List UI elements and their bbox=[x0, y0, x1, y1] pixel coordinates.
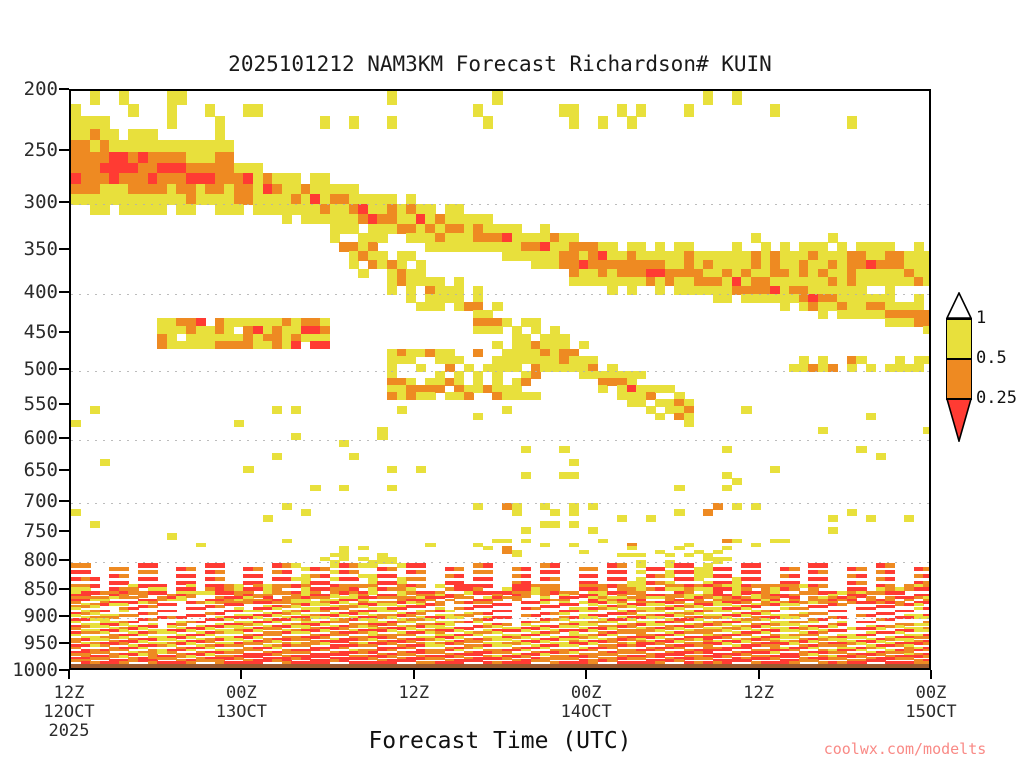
colorbar-arrow-above-1 bbox=[946, 292, 972, 318]
heatmap-cell bbox=[81, 563, 91, 567]
y-tick-label-700: 700 bbox=[0, 490, 58, 512]
heatmap-cell bbox=[492, 91, 502, 105]
heatmap-cell bbox=[349, 577, 359, 581]
heatmap-cell bbox=[205, 104, 215, 117]
heatmap-cell bbox=[923, 601, 931, 604]
heatmap-cell bbox=[272, 406, 282, 413]
heatmap-cell bbox=[387, 466, 397, 473]
y-tick-label-400: 400 bbox=[0, 281, 58, 303]
heatmap-cell bbox=[416, 364, 426, 372]
heatmap-cell bbox=[100, 610, 110, 613]
heatmap-cell bbox=[243, 466, 253, 473]
x-tick-line: 12Z bbox=[9, 684, 129, 703]
heatmap-cell bbox=[521, 527, 531, 534]
heatmap-cell bbox=[923, 629, 931, 632]
heatmap-cell bbox=[579, 341, 589, 349]
heatmap-cell bbox=[866, 515, 876, 522]
heatmap-cell bbox=[550, 563, 560, 567]
heatmap-cell bbox=[90, 521, 100, 528]
x-tick-line: 00Z bbox=[526, 684, 646, 703]
heatmap-cell bbox=[406, 194, 416, 205]
heatmap-cell bbox=[684, 104, 694, 117]
heatmap-cell bbox=[703, 509, 713, 516]
heatmap-cell bbox=[550, 509, 560, 516]
heatmap-cell bbox=[71, 509, 81, 516]
heatmap-cell bbox=[588, 527, 598, 534]
heatmap-cell bbox=[186, 574, 196, 578]
heatmap-cell bbox=[253, 567, 263, 571]
y-tick-label-250: 250 bbox=[0, 139, 58, 161]
heatmap-cell bbox=[358, 546, 368, 550]
colorbar-divider bbox=[946, 318, 972, 320]
heatmap-cell bbox=[713, 503, 723, 510]
heatmap-cell bbox=[483, 546, 493, 550]
y-tick-label-950: 950 bbox=[0, 632, 58, 654]
heatmap-cell bbox=[253, 574, 263, 578]
heatmap-cell bbox=[349, 453, 359, 460]
x-tick-line: 15OCT bbox=[871, 703, 991, 722]
heatmap-cell bbox=[636, 553, 646, 557]
heatmap-cell bbox=[90, 406, 100, 413]
y-tick-label-750: 750 bbox=[0, 520, 58, 542]
heatmap-cell bbox=[435, 302, 445, 311]
heatmap-cell bbox=[646, 515, 656, 522]
heatmap-cell bbox=[224, 152, 234, 164]
y-tick-label-650: 650 bbox=[0, 459, 58, 481]
heatmap-cell bbox=[569, 521, 579, 528]
heatmap-cell bbox=[684, 543, 694, 547]
heatmap-cell bbox=[722, 485, 732, 492]
y-tick-label-500: 500 bbox=[0, 358, 58, 380]
x-tick-label: 00Z14OCT bbox=[526, 684, 646, 722]
heatmap-cell bbox=[483, 570, 493, 574]
heatmap-cell bbox=[320, 173, 330, 184]
heatmap-cell bbox=[167, 533, 177, 540]
y-tick-label-1000: 1000 bbox=[0, 659, 58, 681]
y-tick-mark bbox=[59, 201, 69, 203]
heatmap-cell bbox=[923, 623, 931, 626]
heatmap-cell bbox=[416, 563, 426, 567]
heatmap-cell bbox=[301, 509, 311, 516]
heatmap-cell bbox=[425, 543, 435, 547]
heatmap-cell bbox=[579, 550, 589, 554]
heatmap-cell bbox=[550, 570, 560, 574]
heatmap-cell bbox=[856, 446, 866, 453]
heatmap-cell bbox=[387, 567, 397, 571]
heatmap-cell bbox=[320, 341, 330, 349]
page-title: 2025101212 NAM3KM Forecast Richardson# K… bbox=[0, 52, 1000, 76]
heatmap-cell bbox=[732, 91, 742, 105]
colorbar-legend: 10.50.25 bbox=[946, 318, 972, 438]
heatmap-cell bbox=[521, 567, 531, 571]
heatmap-cell bbox=[454, 567, 464, 571]
heatmap-cell bbox=[818, 427, 828, 434]
heatmap-cell bbox=[148, 625, 158, 628]
heatmap-cell bbox=[473, 503, 483, 510]
y-tick-mark bbox=[59, 403, 69, 405]
heatmap-cell bbox=[71, 104, 81, 117]
heatmap-cell bbox=[100, 204, 110, 214]
heatmap-cell bbox=[492, 302, 502, 311]
heatmap-cell bbox=[521, 446, 531, 453]
y-tick-mark bbox=[59, 368, 69, 370]
heatmap-cell bbox=[674, 485, 684, 492]
heatmap-cell bbox=[828, 364, 838, 372]
heatmap-cell bbox=[502, 603, 512, 606]
heatmap-cell bbox=[684, 553, 694, 557]
x-tick-label: 00Z13OCT bbox=[181, 684, 301, 722]
heatmap-cell bbox=[751, 563, 761, 567]
heatmap-cell bbox=[473, 104, 483, 117]
heatmap-cell bbox=[770, 466, 780, 473]
heatmap-cell bbox=[923, 567, 931, 571]
heatmap-cell bbox=[512, 509, 522, 516]
heatmap-cell bbox=[665, 553, 675, 557]
colorbar-label-0.5: 0.5 bbox=[976, 348, 1007, 368]
x-tick-mark bbox=[930, 670, 932, 679]
heatmap-cell bbox=[703, 91, 713, 105]
heatmap-cell bbox=[119, 567, 129, 571]
heatmap-cell bbox=[502, 406, 512, 413]
heatmap-cell bbox=[253, 163, 263, 174]
y-tick-label-900: 900 bbox=[0, 605, 58, 627]
heatmap-cell bbox=[387, 485, 397, 492]
heatmap-cell bbox=[923, 574, 931, 578]
heatmap-cell bbox=[387, 116, 397, 129]
heatmap-cell bbox=[349, 184, 359, 195]
heatmap-cell bbox=[780, 539, 790, 543]
heatmap-cell bbox=[540, 543, 550, 547]
heatmap-cell bbox=[454, 574, 464, 578]
heatmap-cell bbox=[291, 433, 301, 440]
heatmap-cell bbox=[531, 392, 541, 400]
heatmap-cell bbox=[617, 563, 627, 567]
y-tick-mark bbox=[59, 88, 69, 90]
y-tick-label-200: 200 bbox=[0, 78, 58, 100]
heatmap-cell bbox=[339, 440, 349, 447]
heatmap-cell bbox=[291, 406, 301, 413]
heatmap-cell bbox=[90, 577, 100, 581]
x-tick-line: 00Z bbox=[871, 684, 991, 703]
heatmap-cell bbox=[684, 420, 694, 427]
heatmap-cell bbox=[837, 610, 847, 613]
heatmap-cell bbox=[818, 584, 828, 588]
y-tick-mark bbox=[59, 331, 69, 333]
heatmap-cell bbox=[282, 570, 292, 574]
heatmap-cell bbox=[885, 577, 895, 581]
heatmap-cell bbox=[923, 649, 931, 652]
heatmap-cell bbox=[186, 204, 196, 214]
heatmap-cell bbox=[722, 557, 732, 561]
colorbar-label-0.25: 0.25 bbox=[976, 388, 1017, 408]
heatmap-cell bbox=[119, 91, 129, 105]
heatmap-cell bbox=[856, 574, 866, 578]
heatmap-cell bbox=[387, 194, 397, 205]
heatmap-cell bbox=[291, 173, 301, 184]
y-tick-mark bbox=[59, 500, 69, 502]
heatmap-cell bbox=[90, 584, 100, 588]
heatmap-cell bbox=[847, 509, 857, 516]
heatmap-cell bbox=[215, 563, 225, 567]
heatmap-cell bbox=[416, 584, 426, 588]
heatmap-cell bbox=[215, 570, 225, 574]
heatmap-cell bbox=[521, 574, 531, 578]
heatmap-cell bbox=[483, 584, 493, 588]
y-tick-label-800: 800 bbox=[0, 549, 58, 571]
heatmap-cell bbox=[588, 567, 598, 571]
heatmap-cell bbox=[923, 427, 931, 434]
heatmap-cell bbox=[186, 567, 196, 571]
heatmap-cell bbox=[885, 563, 895, 567]
heatmap-cell bbox=[387, 286, 397, 295]
heatmap-cell bbox=[339, 557, 349, 561]
heatmap-cell bbox=[167, 116, 177, 129]
heatmap-cell bbox=[416, 570, 426, 574]
heatmap-cell bbox=[521, 539, 531, 543]
heatmap-cell bbox=[215, 116, 225, 129]
x-tick-label: 00Z15OCT bbox=[871, 684, 991, 722]
x-tick-line: 14OCT bbox=[526, 703, 646, 722]
heatmap-cell bbox=[828, 515, 838, 522]
x-tick-label: 12Z bbox=[354, 684, 474, 703]
y-tick-mark bbox=[59, 588, 69, 590]
y-tick-mark bbox=[59, 149, 69, 151]
heatmap-cell bbox=[483, 563, 493, 567]
x-tick-mark bbox=[413, 670, 415, 679]
heatmap-cell bbox=[588, 574, 598, 578]
heatmap-cell bbox=[722, 294, 732, 303]
heatmap-cell bbox=[559, 446, 569, 453]
heatmap-cell bbox=[377, 233, 387, 243]
heatmap-cell bbox=[722, 567, 732, 571]
y-tick-label-350: 350 bbox=[0, 238, 58, 260]
heatmap-cell bbox=[464, 392, 474, 400]
heatmap-cell bbox=[224, 140, 234, 152]
heatmap-cell bbox=[473, 413, 483, 420]
heatmap-plot-area bbox=[69, 89, 931, 670]
heatmap-cell bbox=[90, 91, 100, 105]
heatmap-cell bbox=[196, 543, 206, 547]
heatmap-cell bbox=[751, 570, 761, 574]
heatmap-cell bbox=[282, 214, 292, 224]
heatmap-cell bbox=[732, 478, 742, 485]
heatmap-cell bbox=[148, 563, 158, 567]
heatmap-cell bbox=[253, 104, 263, 117]
heatmap-cell bbox=[588, 503, 598, 510]
heatmap-cell bbox=[109, 129, 119, 141]
heatmap-cell bbox=[176, 91, 186, 105]
heatmap-cell bbox=[713, 550, 723, 554]
heatmap-cell bbox=[751, 577, 761, 581]
watermark: coolwx.com/modelts bbox=[790, 740, 1020, 758]
heatmap-cell bbox=[339, 485, 349, 492]
y-tick-label-450: 450 bbox=[0, 321, 58, 343]
heatmap-cell bbox=[636, 104, 646, 117]
x-tick-mark bbox=[68, 670, 70, 679]
heatmap-cell bbox=[310, 485, 320, 492]
x-tick-line: 12Z bbox=[354, 684, 474, 703]
y-tick-mark bbox=[59, 642, 69, 644]
heatmap-cell bbox=[272, 453, 282, 460]
heatmap-cell bbox=[847, 364, 857, 372]
heatmap-cell bbox=[818, 310, 828, 319]
heatmap-cell bbox=[828, 527, 838, 534]
colorbar-divider bbox=[946, 358, 972, 360]
terrain-ground-layer bbox=[71, 664, 929, 670]
y-tick-mark bbox=[59, 437, 69, 439]
heatmap-cell bbox=[215, 577, 225, 581]
heatmap-cell bbox=[397, 406, 407, 413]
heatmap-cell bbox=[770, 104, 780, 117]
heatmap-cell bbox=[674, 546, 684, 550]
heatmap-cell bbox=[531, 371, 541, 379]
heatmap-cell bbox=[483, 116, 493, 129]
heatmap-cell bbox=[923, 636, 931, 639]
heatmap-cell bbox=[598, 539, 608, 543]
heatmap-cell bbox=[167, 104, 177, 117]
heatmap-cell bbox=[598, 116, 608, 129]
heatmap-cell bbox=[167, 610, 177, 613]
heatmap-cell bbox=[847, 116, 857, 129]
heatmap-cell bbox=[598, 385, 608, 393]
heatmap-cell bbox=[713, 560, 723, 564]
y-tick-mark bbox=[59, 291, 69, 293]
x-tick-mark bbox=[585, 670, 587, 679]
colorbar-label-1: 1 bbox=[976, 308, 986, 328]
y-tick-mark bbox=[59, 530, 69, 532]
heatmap-cell bbox=[234, 204, 244, 214]
heatmap-cell bbox=[751, 543, 761, 547]
heatmap-cell bbox=[732, 539, 742, 543]
heatmap-cell bbox=[923, 607, 931, 610]
heatmap-cell bbox=[722, 446, 732, 453]
heatmap-cell bbox=[866, 413, 876, 420]
heatmap-cell bbox=[569, 116, 579, 129]
heatmap-cell bbox=[569, 509, 579, 516]
heatmap-cell bbox=[215, 129, 225, 141]
heatmap-cell bbox=[425, 392, 435, 400]
heatmap-cell bbox=[550, 521, 560, 528]
heatmap-cell bbox=[904, 515, 914, 522]
heatmap-cell bbox=[741, 406, 751, 413]
heatmap-cell bbox=[923, 587, 931, 591]
heatmap-cell bbox=[502, 539, 512, 543]
heatmap-cell bbox=[818, 563, 828, 567]
heatmap-cell bbox=[789, 567, 799, 571]
heatmap-cell bbox=[100, 116, 110, 129]
heatmap-cell bbox=[512, 553, 522, 557]
heatmap-cell bbox=[818, 577, 828, 581]
heatmap-cell bbox=[885, 570, 895, 574]
heatmap-cell bbox=[483, 577, 493, 581]
y-tick-label-550: 550 bbox=[0, 393, 58, 415]
heatmap-cell bbox=[71, 420, 81, 427]
heatmap-cell bbox=[627, 116, 637, 129]
heatmap-cell bbox=[856, 581, 866, 585]
heatmap-cell bbox=[119, 574, 129, 578]
heatmap-cell bbox=[234, 420, 244, 427]
y-tick-label-300: 300 bbox=[0, 191, 58, 213]
heatmap-cell bbox=[923, 642, 931, 645]
heatmap-cell bbox=[282, 539, 292, 543]
heatmap-cell bbox=[128, 104, 138, 117]
x-tick-mark bbox=[758, 670, 760, 679]
heatmap-cell bbox=[569, 472, 579, 479]
heatmap-cell bbox=[502, 623, 512, 626]
heatmap-cell bbox=[157, 204, 167, 214]
heatmap-cell bbox=[435, 603, 445, 606]
y-tick-mark bbox=[59, 248, 69, 250]
heatmap-cell bbox=[636, 371, 646, 379]
colorbar-divider bbox=[946, 398, 972, 400]
heatmap-cell bbox=[492, 326, 502, 334]
heatmap-cell bbox=[550, 577, 560, 581]
colorbar-band-05to1 bbox=[946, 318, 972, 358]
heatmap-cell bbox=[502, 616, 512, 619]
heatmap-cell bbox=[789, 574, 799, 578]
heatmap-cell bbox=[923, 326, 931, 334]
heatmap-cell bbox=[521, 378, 531, 386]
heatmap-cell bbox=[914, 364, 924, 372]
heatmap-cell bbox=[627, 286, 637, 295]
heatmap-cell bbox=[148, 577, 158, 581]
y-tick-mark bbox=[59, 615, 69, 617]
heatmap-cell bbox=[876, 453, 886, 460]
colorbar-arrow-below-025 bbox=[946, 398, 972, 442]
heatmap-cell bbox=[655, 413, 665, 420]
heatmap-cells bbox=[71, 91, 929, 668]
heatmap-cell bbox=[358, 269, 368, 278]
heatmap-cell bbox=[655, 286, 665, 295]
chart-page: 2025101212 NAM3KM Forecast Richardson# K… bbox=[0, 0, 1024, 768]
heatmap-cell bbox=[81, 570, 91, 574]
x-tick-line: 00Z bbox=[181, 684, 301, 703]
y-tick-mark bbox=[59, 469, 69, 471]
x-tick-label: 12Z bbox=[699, 684, 819, 703]
heatmap-cell bbox=[617, 570, 627, 574]
y-tick-label-600: 600 bbox=[0, 427, 58, 449]
heatmap-cell bbox=[291, 341, 301, 349]
heatmap-cell bbox=[569, 543, 579, 547]
heatmap-cell bbox=[923, 277, 931, 286]
heatmap-cell bbox=[416, 466, 426, 473]
heatmap-cell bbox=[732, 503, 742, 510]
heatmap-cell bbox=[607, 286, 617, 295]
heatmap-cell bbox=[818, 570, 828, 574]
heatmap-cell bbox=[780, 302, 790, 311]
heatmap-cell bbox=[100, 459, 110, 466]
heatmap-cell bbox=[751, 503, 761, 510]
heatmap-cell bbox=[569, 459, 579, 466]
heatmap-cell bbox=[923, 616, 931, 619]
heatmap-cell bbox=[722, 546, 732, 550]
heatmap-cell bbox=[167, 603, 177, 606]
heatmap-cell bbox=[617, 515, 627, 522]
colorbar-band-025to05 bbox=[946, 358, 972, 398]
heatmap-cell bbox=[856, 567, 866, 571]
heatmap-cell bbox=[502, 610, 512, 613]
heatmap-cell bbox=[627, 546, 637, 550]
x-tick-mark bbox=[240, 670, 242, 679]
heatmap-cell bbox=[569, 104, 579, 117]
heatmap-cell bbox=[674, 509, 684, 516]
heatmap-cell bbox=[387, 91, 397, 105]
heatmap-cell bbox=[923, 356, 931, 364]
heatmap-cell bbox=[617, 104, 627, 117]
heatmap-cell bbox=[349, 116, 359, 129]
heatmap-cell bbox=[263, 515, 273, 522]
heatmap-cell bbox=[282, 503, 292, 510]
